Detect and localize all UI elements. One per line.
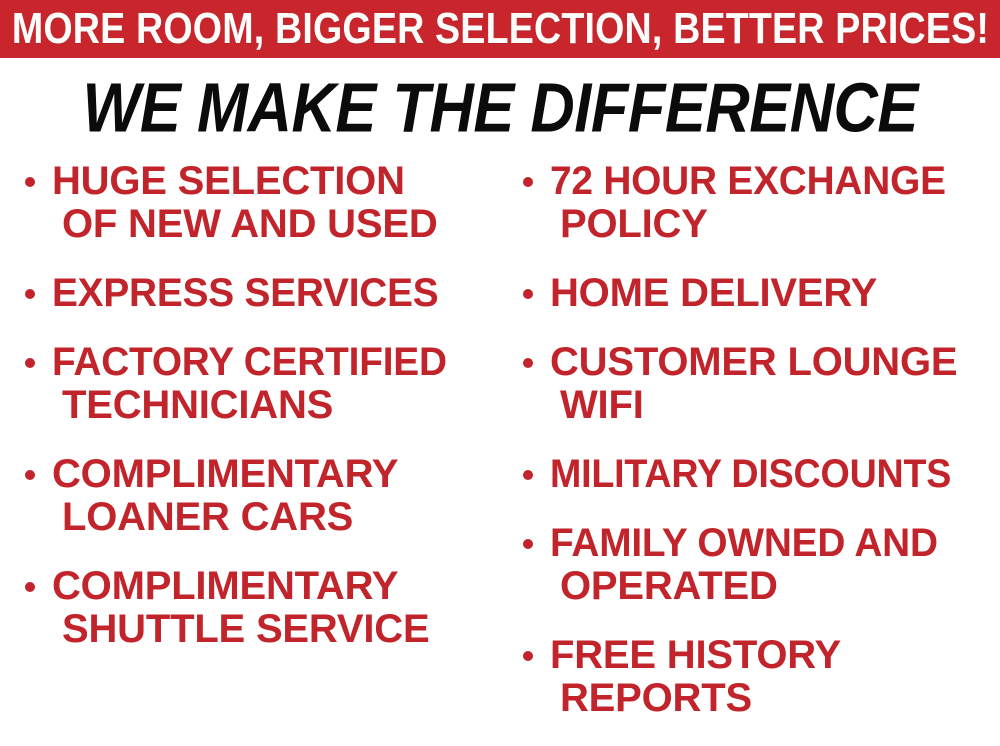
benefit-item-line: SHUTTLE SERVICE — [52, 608, 500, 651]
benefit-item-text: MILITARY DISCOUNTS — [550, 453, 1000, 496]
benefit-item: CUSTOMER LOUNGEWIFI — [516, 341, 1000, 427]
benefits-columns: HUGE SELECTIONOF NEW AND USEDEXPRESS SER… — [0, 160, 1000, 694]
benefit-item: FACTORY CERTIFIEDTECHNICIANS — [18, 341, 500, 427]
benefit-item-line: 72 HOUR EXCHANGE — [550, 160, 987, 203]
benefit-item-line: OF NEW AND USED — [52, 203, 500, 246]
benefit-item-text: HOME DELIVERY — [550, 272, 1000, 315]
benefit-item-line: MILITARY DISCOUNTS — [550, 453, 973, 496]
bullet-dot-icon — [523, 651, 533, 661]
benefit-item-text: COMPLIMENTARYLOANER CARS — [52, 453, 500, 539]
benefit-item-line: HUGE SELECTION — [52, 160, 500, 203]
benefit-item: MILITARY DISCOUNTS — [516, 453, 1000, 496]
bullet-dot-icon — [523, 177, 533, 187]
benefit-item-text: HUGE SELECTIONOF NEW AND USED — [52, 160, 500, 246]
main-headline-text: WE MAKE THE DIFFERENCE — [82, 72, 917, 138]
bullet-dot-icon — [523, 289, 533, 299]
benefit-item: FAMILY OWNED ANDOPERATED — [516, 522, 1000, 608]
benefit-item: COMPLIMENTARYSHUTTLE SERVICE — [18, 565, 500, 651]
benefit-item-line: POLICY — [550, 203, 1000, 246]
bullet-dot-icon — [25, 177, 35, 187]
benefit-item: COMPLIMENTARYLOANER CARS — [18, 453, 500, 539]
bullet-dot-icon — [25, 470, 35, 480]
benefit-item-text: FACTORY CERTIFIEDTECHNICIANS — [52, 341, 500, 427]
benefit-item-text: 72 HOUR EXCHANGEPOLICY — [550, 160, 1000, 246]
benefit-item-text: FAMILY OWNED ANDOPERATED — [550, 522, 1000, 608]
benefit-item-text: FREE HISTORYREPORTS — [550, 634, 1000, 720]
benefit-item-line: REPORTS — [550, 677, 1000, 720]
benefit-item-line: FACTORY CERTIFIED — [52, 341, 487, 384]
benefit-item-line: FREE HISTORY — [550, 634, 1000, 677]
benefit-item-line: OPERATED — [550, 565, 1000, 608]
benefit-item-line: HOME DELIVERY — [550, 272, 1000, 315]
benefit-item-line: LOANER CARS — [52, 496, 500, 539]
bullet-dot-icon — [25, 582, 35, 592]
promo-banner: MORE ROOM, BIGGER SELECTION, BETTER PRIC… — [0, 0, 1000, 58]
benefit-item-text: EXPRESS SERVICES — [52, 272, 500, 315]
promo-banner-text: MORE ROOM, BIGGER SELECTION, BETTER PRIC… — [11, 7, 988, 51]
benefits-column-left: HUGE SELECTIONOF NEW AND USEDEXPRESS SER… — [18, 160, 500, 677]
bullet-dot-icon — [523, 470, 533, 480]
benefit-item-line: COMPLIMENTARY — [52, 565, 500, 608]
bullet-dot-icon — [25, 358, 35, 368]
benefit-item-text: COMPLIMENTARYSHUTTLE SERVICE — [52, 565, 500, 651]
benefits-column-right: 72 HOUR EXCHANGEPOLICYHOME DELIVERYCUSTO… — [516, 160, 1000, 746]
benefit-item-line: FAMILY OWNED AND — [550, 522, 987, 565]
benefit-item: HOME DELIVERY — [516, 272, 1000, 315]
benefit-item: FREE HISTORYREPORTS — [516, 634, 1000, 720]
bullet-dot-icon — [25, 289, 35, 299]
bullet-dot-icon — [523, 358, 533, 368]
benefit-item: 72 HOUR EXCHANGEPOLICY — [516, 160, 1000, 246]
bullet-dot-icon — [523, 539, 533, 549]
benefit-item-line: COMPLIMENTARY — [52, 453, 500, 496]
benefit-item: EXPRESS SERVICES — [18, 272, 500, 315]
benefit-item-line: TECHNICIANS — [52, 384, 500, 427]
benefit-item-line: CUSTOMER LOUNGE — [550, 341, 1000, 384]
benefit-item: HUGE SELECTIONOF NEW AND USED — [18, 160, 500, 246]
benefit-item-line: WIFI — [550, 384, 1000, 427]
benefit-item-text: CUSTOMER LOUNGEWIFI — [550, 341, 1000, 427]
benefit-item-line: EXPRESS SERVICES — [52, 272, 487, 315]
main-headline: WE MAKE THE DIFFERENCE — [0, 72, 1000, 138]
